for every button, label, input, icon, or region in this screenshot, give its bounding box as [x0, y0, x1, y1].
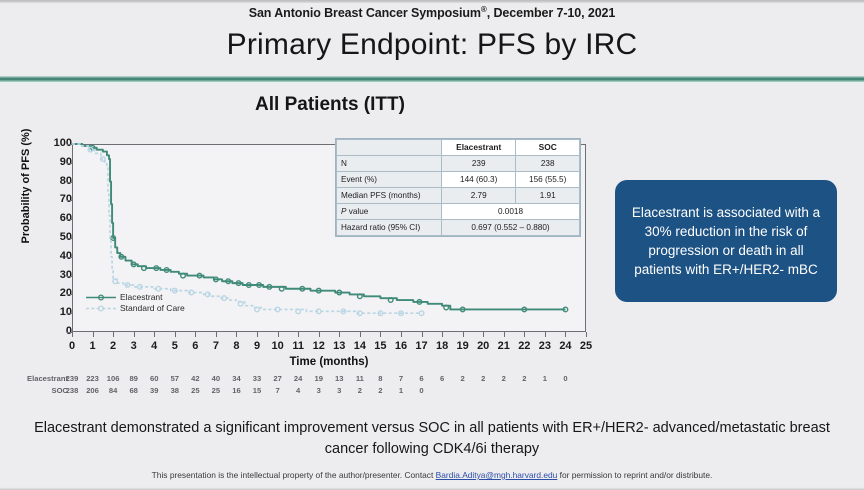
at-risk-value: 1 — [534, 374, 556, 383]
footer-email-link[interactable]: Bardia.Aditya@mgh.harvard.edu — [436, 470, 558, 480]
x-tick-label: 21 — [493, 340, 515, 352]
x-tick-label: 24 — [554, 340, 576, 352]
at-risk-value: 68 — [123, 386, 145, 395]
x-tick-mark — [524, 332, 525, 337]
table-cell-soc: 238 — [516, 156, 580, 172]
censor-mark — [181, 273, 186, 278]
censor-mark — [205, 292, 210, 297]
x-tick-mark — [257, 332, 258, 337]
x-tick-label: 22 — [513, 340, 535, 352]
x-tick-mark — [442, 332, 443, 337]
x-tick-mark — [545, 332, 546, 337]
censor-mark — [222, 296, 227, 301]
x-tick-label: 12 — [308, 340, 330, 352]
at-risk-value: 3 — [328, 386, 350, 395]
censor-mark — [296, 309, 301, 314]
table-header-soc: SOC — [516, 140, 580, 156]
censor-mark — [142, 266, 147, 271]
callout-text: Elacestrant is associated with a 30% red… — [625, 203, 827, 279]
at-risk-value: 4 — [287, 386, 309, 395]
statistics-table-head: Elacestrant SOC — [337, 140, 580, 156]
table-cell-span: 0.697 (0.552 – 0.880) — [442, 220, 580, 236]
slide-root: San Antonio Breast Cancer Symposium®, De… — [0, 0, 864, 490]
footer-text-before: This presentation is the intellectual pr… — [152, 470, 436, 480]
x-tick-mark — [154, 332, 155, 337]
x-tick-mark — [134, 332, 135, 337]
x-tick-mark — [93, 332, 94, 337]
legend-item-soc: Standard of Care — [86, 303, 185, 314]
x-tick-mark — [483, 332, 484, 337]
x-tick-mark — [422, 332, 423, 337]
x-tick-label: 14 — [349, 340, 371, 352]
table-cell-elacestrant: 144 (60.3) — [442, 172, 516, 188]
table-row: Median PFS (months)2.791.91 — [337, 188, 580, 204]
footer-text-after: for permission to reprint and/or distrib… — [557, 470, 712, 480]
statistics-table: Elacestrant SOC N239238Event (%)144 (60.… — [336, 139, 580, 236]
censor-mark — [316, 309, 321, 314]
x-tick-mark — [236, 332, 237, 337]
at-risk-value: 2 — [452, 374, 474, 383]
at-risk-value: 15 — [246, 386, 268, 395]
x-tick-mark — [72, 332, 73, 337]
at-risk-value: 38 — [164, 386, 186, 395]
x-tick-mark — [463, 332, 464, 337]
chart-legend: ElacestrantStandard of Care — [86, 292, 185, 314]
at-risk-value: 239 — [61, 374, 83, 383]
at-risk-value: 106 — [102, 374, 124, 383]
at-risk-value: 13 — [328, 374, 350, 383]
x-tick-mark — [113, 332, 114, 337]
at-risk-value: 11 — [349, 374, 371, 383]
x-tick-mark — [339, 332, 340, 337]
legend-item-elacestrant: Elacestrant — [86, 292, 185, 303]
at-risk-value: 40 — [205, 374, 227, 383]
table-row: P value0.0018 — [337, 204, 580, 220]
x-tick-label: 3 — [123, 340, 145, 352]
censor-mark — [275, 307, 280, 312]
callout-box: Elacestrant is associated with a 30% red… — [615, 180, 837, 302]
x-tick-label: 16 — [390, 340, 412, 352]
table-row: N239238 — [337, 156, 580, 172]
x-tick-label: 7 — [205, 340, 227, 352]
censor-mark — [388, 298, 393, 303]
conference-dates: , December 7-10, 2021 — [487, 6, 616, 20]
x-tick-mark — [298, 332, 299, 337]
censor-mark — [279, 286, 284, 291]
x-tick-label: 6 — [184, 340, 206, 352]
at-risk-value: 6 — [411, 374, 433, 383]
at-risk-value: 25 — [205, 386, 227, 395]
x-tick-label: 20 — [472, 340, 494, 352]
x-tick-mark — [216, 332, 217, 337]
at-risk-value: 6 — [431, 374, 453, 383]
at-risk-row: Elacestrant23922310689605742403433272419… — [0, 374, 610, 386]
x-tick-label: 1 — [82, 340, 104, 352]
censor-mark — [156, 286, 161, 291]
statistics-table-body: N239238Event (%)144 (60.3)156 (55.5)Medi… — [337, 156, 580, 236]
x-tick-mark — [565, 332, 566, 337]
at-risk-value: 7 — [267, 386, 289, 395]
censor-mark — [238, 302, 243, 307]
at-risk-value: 24 — [287, 374, 309, 383]
at-risk-value: 7 — [390, 374, 412, 383]
x-tick-mark — [380, 332, 381, 337]
x-tick-label: 19 — [452, 340, 474, 352]
at-risk-value: 39 — [143, 386, 165, 395]
x-tick-mark — [195, 332, 196, 337]
at-risk-table: Elacestrant23922310689605742403433272419… — [0, 374, 610, 398]
conclusion-text: Elacestrant demonstrated a significant i… — [32, 418, 832, 460]
x-tick-mark — [319, 332, 320, 337]
table-cell-soc: 156 (55.5) — [516, 172, 580, 188]
x-axis-label: Time (months) — [72, 356, 586, 368]
table-row-label: Event (%) — [337, 172, 442, 188]
at-risk-value: 0 — [554, 374, 576, 383]
at-risk-value: 16 — [225, 386, 247, 395]
chart-subtitle: All Patients (ITT) — [0, 94, 660, 116]
legend-swatch-icon — [86, 293, 116, 302]
x-tick-label: 25 — [575, 340, 597, 352]
x-tick-label: 18 — [431, 340, 453, 352]
at-risk-row: SOC238206846839382525161574332210 — [0, 386, 610, 398]
page-title: Primary Endpoint: PFS by IRC — [0, 28, 864, 62]
at-risk-value: 27 — [267, 374, 289, 383]
footer: This presentation is the intellectual pr… — [0, 470, 864, 480]
table-row: Event (%)144 (60.3)156 (55.5) — [337, 172, 580, 188]
at-risk-value: 34 — [225, 374, 247, 383]
x-tick-label: 4 — [143, 340, 165, 352]
x-tick-mark — [504, 332, 505, 337]
legend-swatch-icon — [86, 304, 116, 313]
at-risk-value: 33 — [246, 374, 268, 383]
at-risk-value: 223 — [82, 374, 104, 383]
x-tick-label: 8 — [225, 340, 247, 352]
at-risk-value: 238 — [61, 386, 83, 395]
table-row-label: Median PFS (months) — [337, 188, 442, 204]
at-risk-value: 60 — [143, 374, 165, 383]
x-tick-label: 2 — [102, 340, 124, 352]
at-risk-value: 0 — [411, 386, 433, 395]
at-risk-value: 57 — [164, 374, 186, 383]
censor-mark — [444, 305, 449, 310]
x-tick-mark — [175, 332, 176, 337]
table-row-label: N — [337, 156, 442, 172]
x-tick-label: 11 — [287, 340, 309, 352]
x-tick-label: 10 — [267, 340, 289, 352]
title-divider-rule-highlight — [0, 82, 864, 84]
x-tick-label: 13 — [328, 340, 350, 352]
at-risk-value: 89 — [123, 374, 145, 383]
x-tick-label: 5 — [164, 340, 186, 352]
at-risk-value: 42 — [184, 374, 206, 383]
at-risk-value: 8 — [369, 374, 391, 383]
x-tick-label: 9 — [246, 340, 268, 352]
at-risk-value: 2 — [513, 374, 535, 383]
x-tick-label: 15 — [369, 340, 391, 352]
table-cell-span: 0.0018 — [442, 204, 580, 220]
table-row-label: Hazard ratio (95% CI) — [337, 220, 442, 236]
at-risk-value: 3 — [308, 386, 330, 395]
table-row: Hazard ratio (95% CI)0.697 (0.552 – 0.88… — [337, 220, 580, 236]
table-cell-elacestrant: 239 — [442, 156, 516, 172]
x-tick-mark — [586, 332, 587, 337]
table-cell-soc: 1.91 — [516, 188, 580, 204]
conference-banner: San Antonio Breast Cancer Symposium®, De… — [0, 5, 864, 20]
at-risk-value: 2 — [493, 374, 515, 383]
censor-mark — [419, 311, 424, 316]
x-tick-label: 17 — [411, 340, 433, 352]
censor-mark — [358, 311, 363, 316]
at-risk-value: 2 — [472, 374, 494, 383]
table-header-elacestrant: Elacestrant — [442, 140, 516, 156]
censor-mark — [358, 294, 363, 299]
table-header-row: Elacestrant SOC — [337, 140, 580, 156]
at-risk-value: 1 — [390, 386, 412, 395]
x-tick-mark — [278, 332, 279, 337]
at-risk-value: 2 — [369, 386, 391, 395]
table-row-label: P value — [337, 204, 442, 220]
at-risk-value: 206 — [82, 386, 104, 395]
at-risk-value: 19 — [308, 374, 330, 383]
table-cell-elacestrant: 2.79 — [442, 188, 516, 204]
conference-name: San Antonio Breast Cancer Symposium — [249, 6, 481, 20]
x-tick-label: 0 — [61, 340, 83, 352]
censor-mark — [113, 279, 118, 284]
legend-label: Elacestrant — [120, 292, 163, 303]
censor-mark — [189, 290, 194, 295]
censor-mark — [255, 307, 260, 312]
x-tick-label: 23 — [534, 340, 556, 352]
top-edge-divider — [0, 0, 864, 3]
x-tick-mark — [360, 332, 361, 337]
at-risk-value: 2 — [349, 386, 371, 395]
at-risk-value: 84 — [102, 386, 124, 395]
at-risk-value: 25 — [184, 386, 206, 395]
table-corner-cell — [337, 140, 442, 156]
legend-label: Standard of Care — [120, 303, 185, 314]
x-tick-mark — [401, 332, 402, 337]
